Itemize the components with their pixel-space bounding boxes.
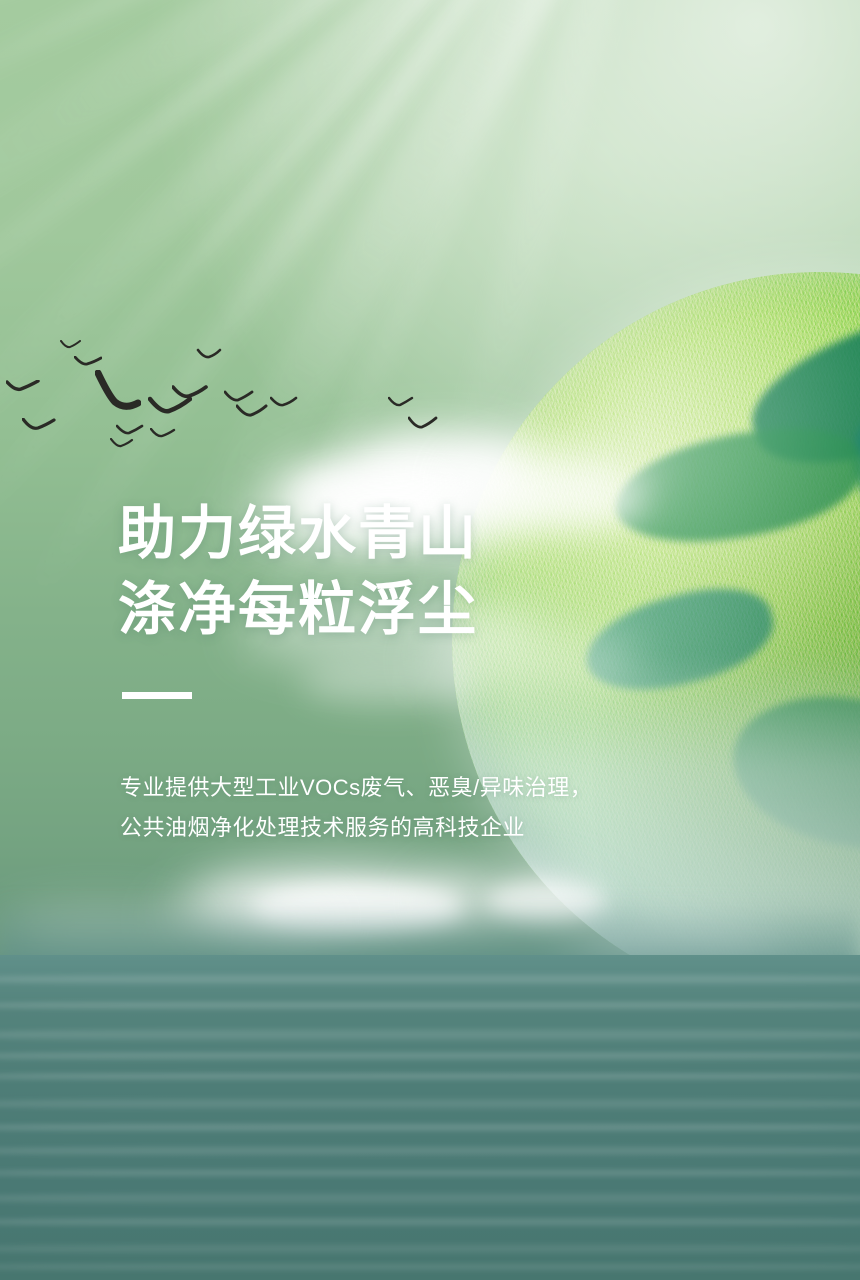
subtitle-line-2: 公共油烟净化处理技术服务的高科技企业 bbox=[120, 815, 525, 840]
bird-icon bbox=[74, 356, 102, 370]
bird-icon bbox=[22, 418, 56, 434]
bird-icon bbox=[95, 370, 141, 414]
headline-line-1: 助力绿水青山 bbox=[118, 501, 478, 566]
bird-icon bbox=[388, 396, 414, 409]
bird-icon bbox=[224, 390, 254, 405]
bird-icon bbox=[196, 348, 222, 362]
bird-icon bbox=[270, 396, 298, 410]
bird-icon bbox=[6, 380, 40, 396]
subtitle: 专业提供大型工业VOCs废气、恶臭/异味治理，公共油烟净化处理技术服务的高科技企… bbox=[120, 768, 592, 848]
bird-icon bbox=[408, 416, 438, 432]
bird-icon bbox=[148, 396, 192, 418]
bird-icon bbox=[110, 438, 134, 450]
bird-icon bbox=[236, 404, 268, 420]
poster-banner: 助力绿水青山涤净每粒浮尘 专业提供大型工业VOCs废气、恶臭/异味治理，公共油烟… bbox=[0, 0, 860, 1280]
bird-icon bbox=[60, 340, 82, 351]
headline-divider bbox=[122, 692, 192, 699]
water-surface bbox=[0, 955, 860, 1280]
subtitle-line-1: 专业提供大型工业VOCs废气、恶臭/异味治理， bbox=[120, 775, 592, 800]
headline-line-2: 涤净每粒浮尘 bbox=[118, 577, 478, 642]
headline: 助力绿水青山涤净每粒浮尘 bbox=[118, 496, 478, 648]
bird-icon bbox=[116, 424, 144, 438]
bird-icon bbox=[150, 428, 176, 440]
